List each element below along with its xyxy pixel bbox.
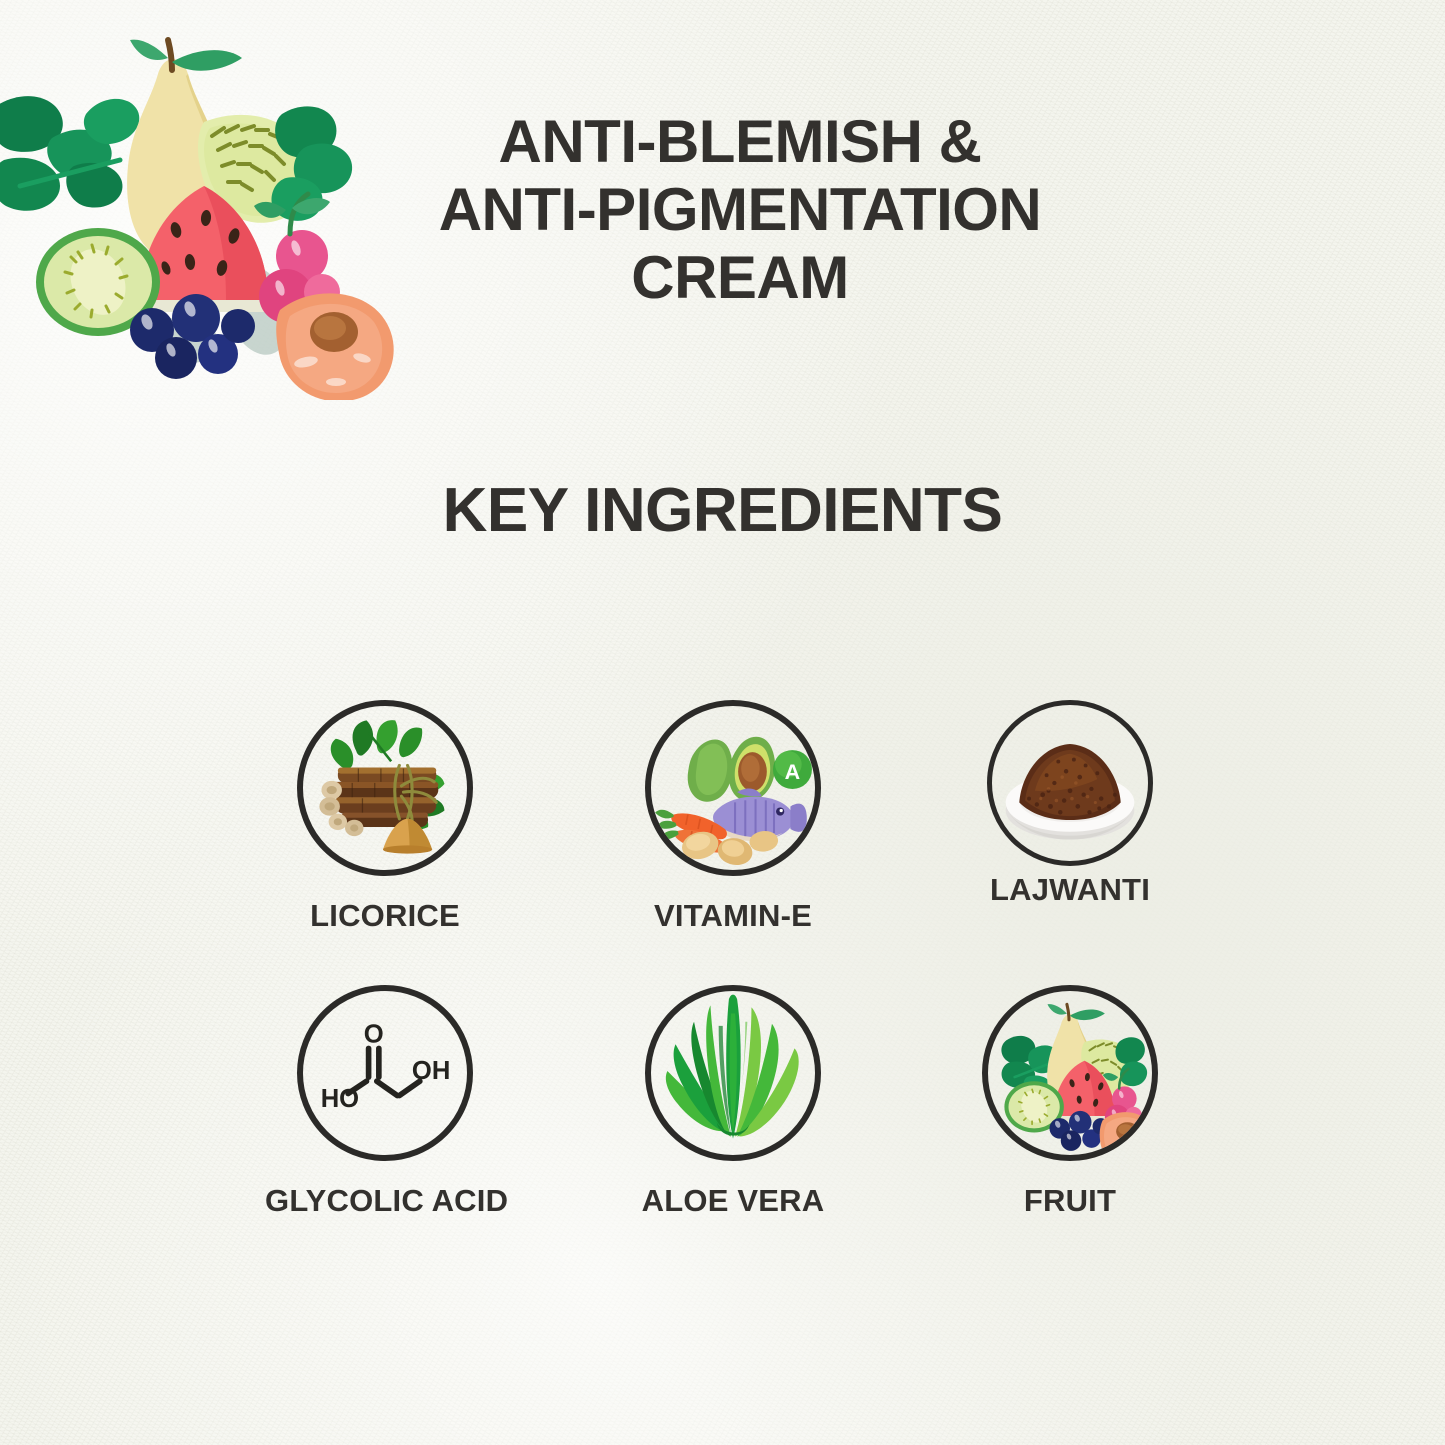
- aloe-vera-label: ALOE VERA: [613, 1183, 853, 1219]
- ingredients-grid: LICORICE: [250, 700, 1210, 1270]
- title-line-2: ANTI-PIGMENTATION: [340, 176, 1140, 244]
- svg-text:A: A: [785, 760, 801, 784]
- licorice-label: LICORICE: [265, 898, 505, 934]
- title-line-3: CREAM: [340, 244, 1140, 312]
- glycolic-acid-molecule-icon: O HO OH: [303, 991, 467, 1155]
- licorice-circle-frame: [297, 700, 473, 876]
- watercolor-fruit-icon: [988, 991, 1152, 1155]
- ingredient-vitamin-e[interactable]: A: [613, 700, 853, 934]
- seed-powder-mound: [1019, 744, 1120, 820]
- avocado-whole: [688, 739, 733, 801]
- vitamin-e-label: VITAMIN-E: [613, 898, 853, 934]
- ingredient-licorice[interactable]: LICORICE: [265, 700, 505, 934]
- vitamin-a-badge: A: [773, 750, 812, 789]
- vitamin-e-foods-icon: A: [651, 706, 815, 870]
- product-infographic-page: ANTI-BLEMISH & ANTI-PIGMENTATION CREAM K…: [0, 0, 1445, 1445]
- lajwanti-seed-bowl-icon: [992, 705, 1148, 861]
- atom-label-OH: OH: [412, 1057, 450, 1085]
- vitamin-e-circle-frame: A: [645, 700, 821, 876]
- lajwanti-label: LAJWANTI: [950, 872, 1190, 908]
- title-line-1: ANTI-BLEMISH &: [340, 108, 1140, 176]
- product-title: ANTI-BLEMISH & ANTI-PIGMENTATION CREAM: [340, 108, 1140, 311]
- ingredient-row-2: O HO OH GLYCOLIC ACID: [250, 985, 1210, 1270]
- fruit-label: FRUIT: [950, 1183, 1190, 1219]
- ingredient-lajwanti[interactable]: LAJWANTI: [950, 700, 1190, 908]
- left-leaves: [0, 96, 139, 211]
- aloe-leaves: [666, 995, 799, 1139]
- ingredient-fruit[interactable]: FRUIT: [950, 985, 1190, 1219]
- licorice-sticks: [332, 768, 439, 827]
- lajwanti-circle-frame: [987, 700, 1153, 866]
- atom-label-O: O: [364, 1020, 384, 1048]
- ingredient-aloe-vera[interactable]: ALOE VERA: [613, 985, 853, 1219]
- glycolic-acid-circle-frame: O HO OH: [297, 985, 473, 1161]
- ingredient-row-1: LICORICE: [250, 700, 1210, 985]
- atom-label-HO: HO: [321, 1085, 359, 1113]
- fruit-circle-frame: [982, 985, 1158, 1161]
- aloe-vera-circle-frame: [645, 985, 821, 1161]
- molecule-atom-labels: O HO OH: [321, 1020, 451, 1113]
- fruit-peach: [1100, 1112, 1152, 1155]
- glycolic-acid-label: GLYCOLIC ACID: [265, 1183, 505, 1219]
- ingredient-glycolic-acid[interactable]: O HO OH GLYCOLIC ACID: [265, 985, 505, 1219]
- licorice-sticks-icon: [303, 706, 467, 870]
- key-ingredients-heading: KEY INGREDIENTS: [0, 475, 1445, 546]
- aloe-vera-plant-icon: [651, 991, 815, 1155]
